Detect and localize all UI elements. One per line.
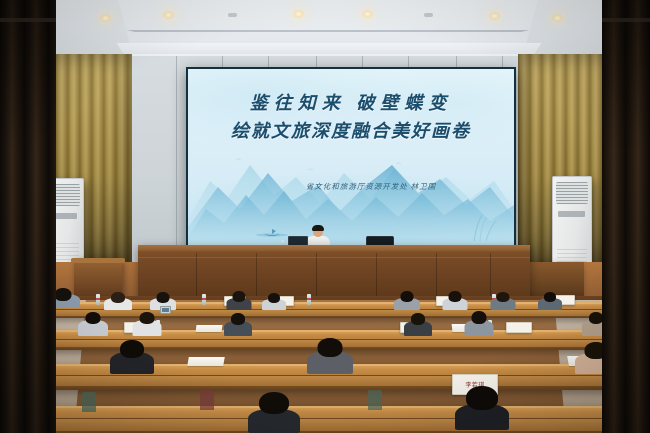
slide-byline: 省文化和旅游厅资源开发处 林卫国	[188, 181, 514, 192]
projection-screen: ︿ ︿ ︿ 鉴往知来 破壁蝶变 绘就文旅深度融合美好画卷 省文化和旅游厅资源开发…	[186, 67, 516, 247]
bird-mark-icon: ︿	[236, 155, 241, 162]
audience-person	[404, 313, 432, 336]
chair-back	[200, 390, 214, 410]
smartphone	[160, 306, 171, 314]
ac-grille-icon	[556, 182, 588, 204]
side-curtain-right	[602, 0, 650, 433]
audience-desk-row-4	[0, 406, 650, 433]
downlight-icon	[362, 10, 373, 18]
audience-person	[78, 312, 108, 336]
water-bottle	[96, 294, 100, 305]
audience-person	[442, 291, 467, 310]
ceiling-edge-line	[118, 30, 538, 32]
nameplate	[506, 322, 532, 333]
downlight-icon	[163, 11, 174, 19]
audience-person	[538, 292, 562, 310]
downlight-icon	[552, 14, 563, 22]
downlight-icon	[489, 12, 500, 20]
water-bottle	[202, 294, 206, 305]
audience-person	[248, 392, 300, 433]
audience-person	[455, 386, 509, 430]
downlight-icon	[293, 10, 304, 18]
audience-person	[262, 293, 286, 310]
ceiling-vent-icon	[228, 13, 237, 17]
water-bottle	[307, 294, 311, 305]
notebook-page	[187, 357, 225, 366]
chair-back	[82, 392, 96, 412]
notebook-page	[196, 325, 223, 332]
ac-badge	[558, 211, 585, 217]
audience-person	[224, 313, 252, 336]
ceiling-vent-icon	[424, 13, 433, 17]
audience-person	[464, 311, 493, 336]
audience-person	[307, 338, 353, 374]
audience-person	[110, 340, 154, 374]
audience-person	[490, 292, 515, 310]
bird-mark-icon: ︿	[308, 165, 313, 172]
conference-hall-photo: ︿ ︿ ︿ 鉴往知来 破壁蝶变 绘就文旅深度融合美好画卷 省文化和旅游厅资源开发…	[0, 0, 650, 433]
audience-person	[132, 312, 161, 336]
chair-back	[368, 390, 382, 410]
audience-person	[394, 291, 420, 310]
audience-person	[104, 292, 132, 310]
slide-canvas: ︿ ︿ ︿ 鉴往知来 破壁蝶变 绘就文旅深度融合美好画卷 省文化和旅游厅资源开发…	[188, 69, 514, 245]
stage-rostrum	[138, 245, 530, 301]
downlight-icon	[100, 14, 111, 22]
bird-mark-icon: ︿	[396, 159, 401, 166]
audience-person	[226, 291, 251, 310]
side-curtain-left	[0, 0, 56, 433]
